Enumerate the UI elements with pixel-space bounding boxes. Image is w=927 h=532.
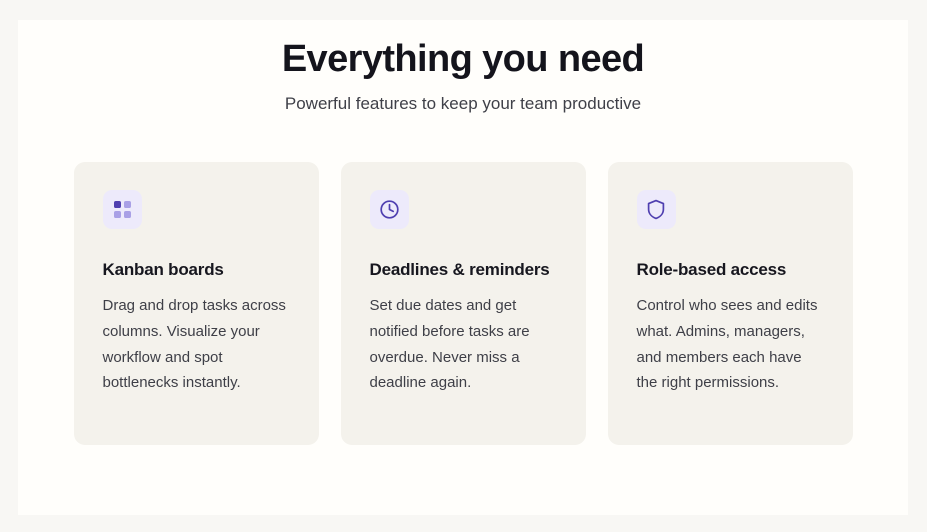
clock-icon xyxy=(370,190,409,229)
feature-card-deadlines-reminders[interactable]: Deadlines & reminders Set due dates and … xyxy=(341,162,586,445)
feature-card-role-based-access[interactable]: Role-based access Control who sees and e… xyxy=(608,162,853,445)
page-subtitle: Powerful features to keep your team prod… xyxy=(18,93,908,115)
grid-icon xyxy=(103,190,142,229)
feature-card-body: Drag and drop tasks across columns. Visu… xyxy=(103,293,290,396)
feature-card-title: Role-based access xyxy=(637,258,824,281)
feature-card-body: Control who sees and edits what. Admins,… xyxy=(637,293,824,396)
feature-cards-row: Kanban boards Drag and drop tasks across… xyxy=(18,162,908,445)
page-title: Everything you need xyxy=(18,38,908,81)
feature-card-title: Deadlines & reminders xyxy=(370,258,557,281)
section-header: Everything you need Powerful features to… xyxy=(18,20,908,115)
features-section: Everything you need Powerful features to… xyxy=(18,20,908,515)
page-panel: Everything you need Powerful features to… xyxy=(18,20,908,515)
shield-icon xyxy=(637,190,676,229)
feature-card-body: Set due dates and get notified before ta… xyxy=(370,293,557,396)
feature-card-kanban-boards[interactable]: Kanban boards Drag and drop tasks across… xyxy=(74,162,319,445)
feature-card-title: Kanban boards xyxy=(103,258,290,281)
